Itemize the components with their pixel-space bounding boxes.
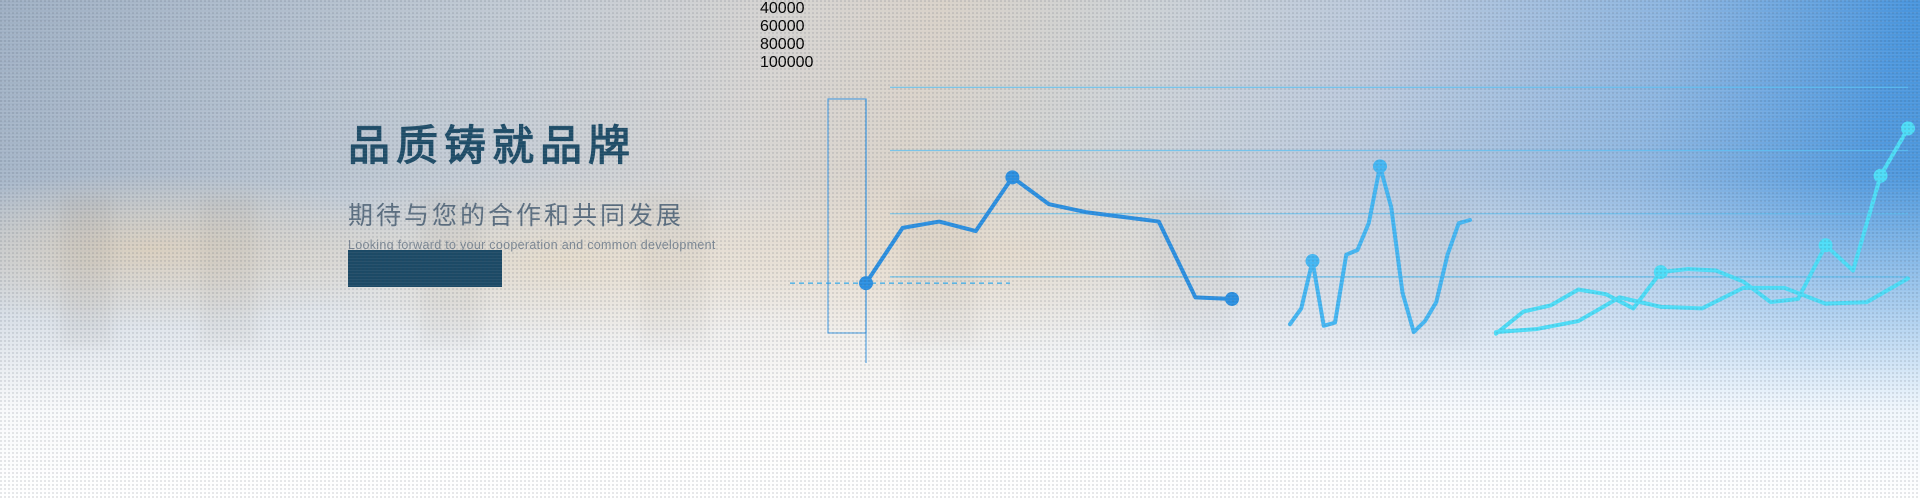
skyline-silhouette [0, 195, 1920, 345]
chart-line [1496, 278, 1908, 332]
y-axis-tick-label: 80000 [760, 36, 850, 54]
halftone-texture [0, 0, 1920, 500]
hero-banner: 400006000080000100000 品质铸就品牌 期待与您的合作和共同发… [0, 0, 1920, 500]
horizon-haze [0, 170, 1920, 370]
chart-data-point [1005, 170, 1019, 184]
y-axis-tick-label: 60000 [760, 18, 850, 36]
chart-series [859, 121, 1915, 333]
y-axis-tick-label: 100000 [760, 54, 850, 72]
chart-line [1290, 166, 1470, 332]
chart-data-point [1654, 265, 1668, 279]
chart-data-point [1306, 254, 1320, 268]
chart-line [866, 177, 1232, 299]
hero-copy: 品质铸就品牌 期待与您的合作和共同发展 Looking forward to y… [348, 122, 908, 252]
page-title: 品质铸就品牌 [348, 122, 908, 170]
chart-data-point [1373, 159, 1387, 173]
chart-gridlines [790, 87, 1908, 283]
cta-button[interactable] [348, 250, 502, 287]
chart-data-point [1901, 121, 1915, 135]
subtitle-chinese: 期待与您的合作和共同发展 [348, 196, 908, 232]
chart-data-point [859, 276, 873, 290]
chart-data-point [1225, 292, 1239, 306]
y-axis-tick-label: 40000 [760, 0, 850, 18]
chart-line [1496, 128, 1908, 333]
chart-data-point [1819, 238, 1833, 252]
scanline-texture [0, 0, 1920, 500]
line-chart [0, 0, 1920, 500]
chart-data-point [1874, 169, 1888, 183]
